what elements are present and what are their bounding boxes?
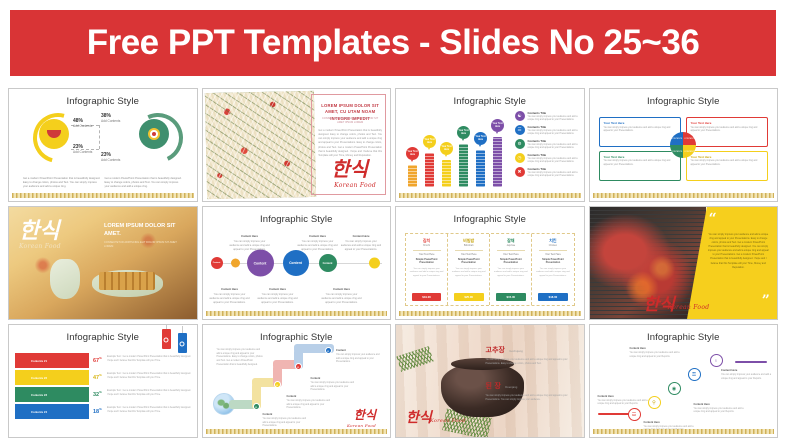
step-caption-1: ContentYou can simply impress your audie… xyxy=(263,413,311,429)
slide-thumbnail-8[interactable]: “ You can simply impress your audience a… xyxy=(589,206,779,320)
step-node-2: ● xyxy=(274,381,281,388)
japchae-icon xyxy=(47,130,61,138)
korean-food-label: Korean Food xyxy=(668,304,710,311)
quadrant-box-1: Your Text Here You can simply impress yo… xyxy=(599,117,682,147)
gear-icon: ⚙ xyxy=(515,139,525,149)
timeline-caption-1: Content HereYou can simply impress your … xyxy=(229,235,271,252)
price-button[interactable]: $18.00 xyxy=(538,293,568,301)
decorative-bottom-border xyxy=(12,193,194,198)
arrow-band-2: Contents #2 xyxy=(15,370,89,385)
ceramic-bottle xyxy=(50,259,80,299)
step-caption-3: ContentYou can simply impress your audie… xyxy=(311,377,359,393)
slide-subheading: CONSECTETUR ADIPISCING ELIT DOLOR IPSUM … xyxy=(104,241,187,249)
korean-food-label: Korean Food xyxy=(347,423,376,428)
korean-noodle-photo xyxy=(204,91,315,199)
legend-list: ☯ Contents TitleYou can simply impress y… xyxy=(515,111,579,181)
clock-icon: ◷ xyxy=(515,153,525,163)
slide-title: Infographic Style xyxy=(203,214,391,225)
caption-right: Get a modern PowerPoint Presentation tha… xyxy=(105,177,183,189)
bar-label-3: Your Text Here xyxy=(440,142,453,155)
bar-label-2: Your Text Here xyxy=(423,135,436,148)
stat-4: 23%Add Contents xyxy=(101,152,120,162)
slide-thumbnail-5[interactable]: 한식 Korean Food LOREM IPSUM DOLOR SIT AME… xyxy=(8,206,198,320)
slide-subheading: CONSECTETUR ADIPISCING ELIT DOLOR SIT AM… xyxy=(318,117,382,125)
camera-icon: ◉ xyxy=(668,382,681,395)
timeline-caption-4: Content HereYou can simply impress your … xyxy=(209,288,251,305)
chain-caption-3: Content HereYou can simply impress your … xyxy=(630,347,680,359)
bar-1 xyxy=(408,165,417,187)
pricing-column-4: 치킨 Chicken Your Text Here Simple PowerPo… xyxy=(532,234,573,305)
decorative-bottom-border xyxy=(206,311,388,316)
quadrant-box-2: Your Text Here You can simply impress yo… xyxy=(686,117,769,147)
bar-4 xyxy=(459,144,468,187)
step-node-1: ● xyxy=(253,403,260,410)
bar-label-5: Your Text Here xyxy=(474,132,487,145)
globe-icon: ♁ xyxy=(710,354,723,367)
price-button[interactable]: $25.00 xyxy=(454,293,484,301)
slide-title: Infographic Style xyxy=(203,332,391,343)
quote-close-icon: ” xyxy=(762,297,770,305)
bar-label-4: Your Text Here xyxy=(457,126,470,139)
step-caption-4: ContentYou can simply impress your audie… xyxy=(336,349,384,365)
timeline-node-1: Content xyxy=(211,257,223,269)
slide-thumbnail-6[interactable]: Infographic Style Content Content Conten… xyxy=(202,206,392,320)
timeline-node-5: Content xyxy=(319,254,337,272)
korean-calligraphy-logo: 한식 xyxy=(406,412,432,425)
korean-food-label: Korean Food xyxy=(19,243,61,250)
timeline-caption-5: Content HereYou can simply impress your … xyxy=(257,288,299,305)
chain-rail-2 xyxy=(735,361,767,363)
timeline-caption-2: Content HereYou can simply impress your … xyxy=(297,235,339,252)
lock-icon: ⚿ xyxy=(688,368,701,381)
quote-body: You can simply impress your audience and… xyxy=(707,233,770,295)
step-node-3: ● xyxy=(295,363,302,370)
timeline-node-4: Content xyxy=(283,250,309,276)
korean-calligraphy-logo: 한식 xyxy=(331,160,368,179)
slide-gallery-page: Free PPT Templates - Slides No 25~36 Inf… xyxy=(0,0,786,445)
timeline-caption-3: Content HereYou can simply impress your … xyxy=(340,235,382,252)
target-icon: ✖ xyxy=(515,167,525,177)
slide-thumbnail-9[interactable]: Infographic Style Contents #1 Contents #… xyxy=(8,324,198,438)
slide-body: Get a modern PowerPoint Presentation tha… xyxy=(318,129,382,158)
page-banner: Free PPT Templates - Slides No 25~36 xyxy=(10,10,776,76)
decorative-bottom-border xyxy=(593,429,775,434)
bar-chart: Your Text Here Your Text Here Your Text … xyxy=(406,125,514,187)
chain-rail-1 xyxy=(598,413,632,415)
jeon-food xyxy=(99,272,155,290)
bar-2 xyxy=(425,153,434,187)
chain-caption-2: Content HereYou can simply impress your … xyxy=(598,395,648,407)
cart-icon: ☯ xyxy=(515,111,525,121)
legend-item: ◷ Contents TitleYou can simply impress y… xyxy=(515,153,579,164)
stat-1: 48%Add Contents xyxy=(73,118,92,128)
decorative-bottom-border xyxy=(399,193,581,198)
slide-title: Infographic Style xyxy=(396,214,584,225)
chain-caption-5: Content HereYou can simply impress your … xyxy=(721,369,771,381)
step-caption-2: ContentYou can simply impress your audie… xyxy=(287,395,335,411)
slide-thumbnail-11[interactable]: 고추장 Gochujang You can simply impress you… xyxy=(395,324,585,438)
slide-thumbnail-3[interactable]: Infographic Style Your Text Here Your Te… xyxy=(395,88,585,202)
donut-chart-right xyxy=(139,119,169,149)
slide-thumbnail-1[interactable]: Infographic Style 48%Add Contents 38%Add… xyxy=(8,88,198,202)
band-body-1: Example Text : Get a modern PowerPoint P… xyxy=(107,356,191,363)
document-icon: ☰ xyxy=(515,125,525,135)
decorative-bottom-border xyxy=(206,429,388,434)
slide-title: Infographic Style xyxy=(590,96,778,107)
timeline-node-6 xyxy=(369,258,380,269)
hanging-tag-2 xyxy=(178,333,187,353)
slide-thumbnail-2[interactable]: LOREM IPSUM DOLOR SIT AMET, CU UTAM NOAM… xyxy=(202,88,392,202)
quadrant-box-3: Your Text Here You can simply impress yo… xyxy=(599,151,682,181)
chain-caption-4: Content HereYou can simply impress your … xyxy=(694,403,744,415)
item-2: 된 장 Doenjang You can simply impress your… xyxy=(486,375,576,403)
arrow-band-4: Contents #4 xyxy=(15,404,89,419)
timeline-caption-6: Content HereYou can simply impress your … xyxy=(321,288,363,305)
item-1: 고추장 Gochujang You can simply impress you… xyxy=(486,339,576,367)
slide-thumbnail-grid: Infographic Style 48%Add Contents 38%Add… xyxy=(8,88,778,438)
slide-thumbnail-12[interactable]: Infographic Style ☲ ⚲ ◉ ⚿ ♁ Content Here… xyxy=(589,324,779,438)
percent-3: 32% xyxy=(93,390,102,398)
arrow-band-1: Contents #1 xyxy=(15,353,89,368)
band-body-4: Example Text : Get a modern PowerPoint P… xyxy=(107,407,191,414)
decorative-bottom-border xyxy=(593,193,775,198)
slide-thumbnail-4[interactable]: Infographic Style Your Text Here You can… xyxy=(589,88,779,202)
pricing-table: 김치 Kimchi Your Text Here Simple PowerPoi… xyxy=(405,233,575,306)
bar-3 xyxy=(442,160,451,187)
arrow-band-3: Contents #3 xyxy=(15,387,89,402)
quadrant-box-4: Your Text Here You can simply impress yo… xyxy=(686,151,769,181)
timeline-node-2 xyxy=(231,259,240,268)
slide-thumbnail-7[interactable]: Infographic Style 김치 Kimchi Your Text He… xyxy=(395,206,585,320)
bibimbap-icon xyxy=(148,128,160,140)
percent-4: 18% xyxy=(93,407,102,415)
price-button[interactable]: $15.00 xyxy=(496,293,526,301)
intro-text: You can simply impress your audience and… xyxy=(217,349,265,367)
korean-calligraphy-logo: 한식 xyxy=(354,410,376,421)
slide-title: Infographic Style xyxy=(590,332,778,343)
slide-title: Infographic Style xyxy=(9,96,197,107)
legend-item: ⚙ Contents TitleYou can simply impress y… xyxy=(515,139,579,150)
bar-label-6: Your Text Here xyxy=(491,119,504,132)
band-body-2: Example Text : Get a modern PowerPoint P… xyxy=(107,373,191,380)
stat-2: 38%Add Contents xyxy=(101,113,120,123)
person-icon: ⚲ xyxy=(648,396,661,409)
percent-2: 47% xyxy=(93,373,102,381)
center-pie-chart: CONTENTS CONTENTS CONTENTS CONTENTS xyxy=(670,132,696,158)
korean-food-label: Korean Food xyxy=(334,182,376,189)
percent-1: 67% xyxy=(93,356,102,364)
cart-icon: ☲ xyxy=(628,408,641,421)
quote-open-icon: “ xyxy=(709,215,717,223)
hanging-tag-1 xyxy=(162,329,171,349)
step-node-4: ● xyxy=(325,347,332,354)
slide-heading: LOREM IPSUM DOLOR SIT AMET. xyxy=(104,223,187,239)
slide-title: Infographic Style xyxy=(396,96,584,107)
pricing-column-3: 잡채 Japchae Your Text Here Simple PowerPo… xyxy=(490,234,532,305)
korean-food-label: Korean Food xyxy=(430,418,465,424)
bar-6 xyxy=(493,137,502,187)
bar-5 xyxy=(476,150,485,187)
legend-item: ☯ Contents TitleYou can simply impress y… xyxy=(515,111,579,122)
legend-item: ☰ Contents TitleYou can simply impress y… xyxy=(515,125,579,136)
bar-label-1: Your Text Here xyxy=(406,147,419,160)
pricing-column-2: 비빔밥 Bibimbab Your Text Here Simple Power… xyxy=(448,234,490,305)
timeline-node-3: Content xyxy=(247,250,274,277)
stat-3: 23%Add Contents xyxy=(73,144,92,154)
pricing-column-1: 김치 Kimchi Your Text Here Simple PowerPoi… xyxy=(406,234,448,305)
price-button[interactable]: $19.00 xyxy=(412,293,442,301)
legend-item: ✖ Contents TitleYou can simply impress y… xyxy=(515,167,579,178)
donut-chart-left xyxy=(39,119,69,149)
slide-thumbnail-10[interactable]: Infographic Style ● ● ● ● You can simply… xyxy=(202,324,392,438)
caption-left: Get a modern PowerPoint Presentation tha… xyxy=(23,177,101,189)
banner-title: Free PPT Templates - Slides No 25~36 xyxy=(87,23,700,63)
decorative-bottom-border xyxy=(399,311,581,316)
band-body-3: Example Text : Get a modern PowerPoint P… xyxy=(107,390,191,397)
korean-calligraphy-logo: 한식 xyxy=(19,221,59,242)
